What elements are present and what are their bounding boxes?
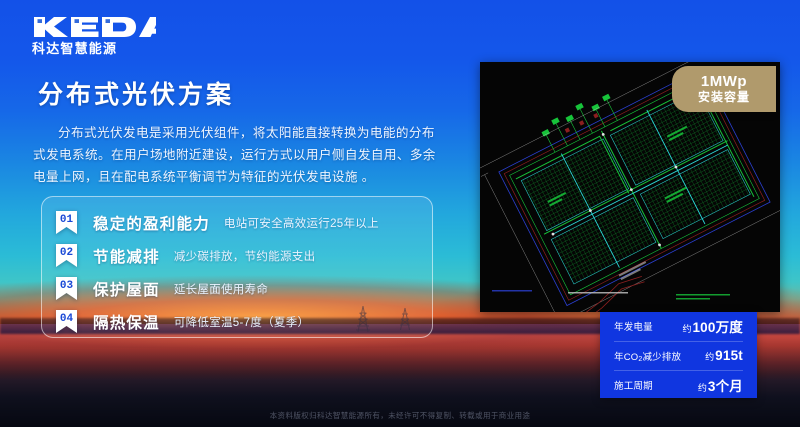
feature-list-panel: 01 稳定的盈利能力 电站可安全高效运行25年以上 02 节能减排 减少碳排放，…: [41, 196, 433, 338]
stat-label: 施工周期: [614, 378, 653, 392]
feature-title: 稳定的盈利能力: [93, 212, 210, 234]
stat-row: 施工周期 约3个月: [614, 371, 743, 400]
stat-prefix: 约: [705, 352, 714, 362]
capacity-badge: 1MWp 安装容量: [672, 66, 776, 112]
stat-label-part-b: 减少排放: [642, 352, 681, 363]
brand-logo: 科达智慧能源: [32, 14, 158, 55]
feature-number: 03: [56, 280, 77, 292]
feature-title: 隔热保温: [93, 311, 160, 333]
ribbon-badge-icon: 01: [56, 211, 77, 234]
feature-desc: 延长屋面使用寿命: [174, 281, 268, 297]
feature-row: 03 保护屋面 延长屋面使用寿命: [42, 272, 432, 305]
ribbon-badge-icon: 03: [56, 277, 77, 300]
ribbon-badge-icon: 04: [56, 310, 77, 333]
feature-number: 02: [56, 247, 77, 259]
feature-number: 01: [56, 214, 77, 226]
stat-row: 年CO2减少排放 约915t: [614, 342, 743, 372]
intro-paragraph: 分布式光伏发电是采用光伏组件，将太阳能直接转换为电能的分布式发电系统。在用户场地…: [33, 122, 443, 188]
feature-number: 04: [56, 313, 77, 325]
stat-number: 3个月: [708, 379, 743, 394]
stats-panel: 年发电量 约100万度 年CO2减少排放 约915t 施工周期 约3个月: [600, 312, 757, 398]
feature-desc: 可降低室温5-7度（夏季）: [174, 314, 310, 330]
stat-number: 100万度: [692, 320, 743, 335]
feature-row: 04 隔热保温 可降低室温5-7度（夏季）: [42, 305, 432, 338]
stat-prefix: 约: [698, 383, 707, 393]
stat-label: 年发电量: [614, 319, 653, 333]
stat-value: 约915t: [705, 348, 743, 363]
capacity-label: 安装容量: [698, 90, 750, 104]
feature-desc: 减少碳排放，节约能源支出: [174, 248, 316, 264]
stat-value: 约100万度: [682, 316, 743, 336]
feature-row: 01 稳定的盈利能力 电站可安全高效运行25年以上: [42, 206, 432, 239]
stat-label-part-a: 年CO: [614, 352, 638, 363]
feature-desc: 电站可安全高效运行25年以上: [224, 215, 379, 231]
stat-label: 年CO2减少排放: [614, 349, 681, 363]
feature-row: 02 节能减排 减少碳排放，节约能源支出: [42, 239, 432, 272]
stat-prefix: 约: [682, 324, 691, 334]
ribbon-badge-icon: 02: [56, 244, 77, 267]
stat-number: 915t: [715, 348, 743, 363]
brand-name-cn: 科达智慧能源: [32, 42, 158, 55]
feature-title: 节能减排: [93, 245, 160, 267]
capacity-value: 1MWp: [701, 73, 747, 90]
feature-title: 保护屋面: [93, 278, 160, 300]
stat-value: 约3个月: [698, 375, 743, 395]
page-title: 分布式光伏方案: [38, 75, 234, 111]
slide-root: 科达智慧能源 分布式光伏方案 分布式光伏发电是采用光伏组件，将太阳能直接转换为电…: [0, 0, 800, 427]
keda-wordmark-icon: [32, 14, 158, 40]
stat-row: 年发电量 约100万度: [614, 312, 743, 342]
footer-note: 本资料版权归科达智慧能源所有，未经许可不得复制、转载或用于商业用途: [0, 410, 800, 421]
